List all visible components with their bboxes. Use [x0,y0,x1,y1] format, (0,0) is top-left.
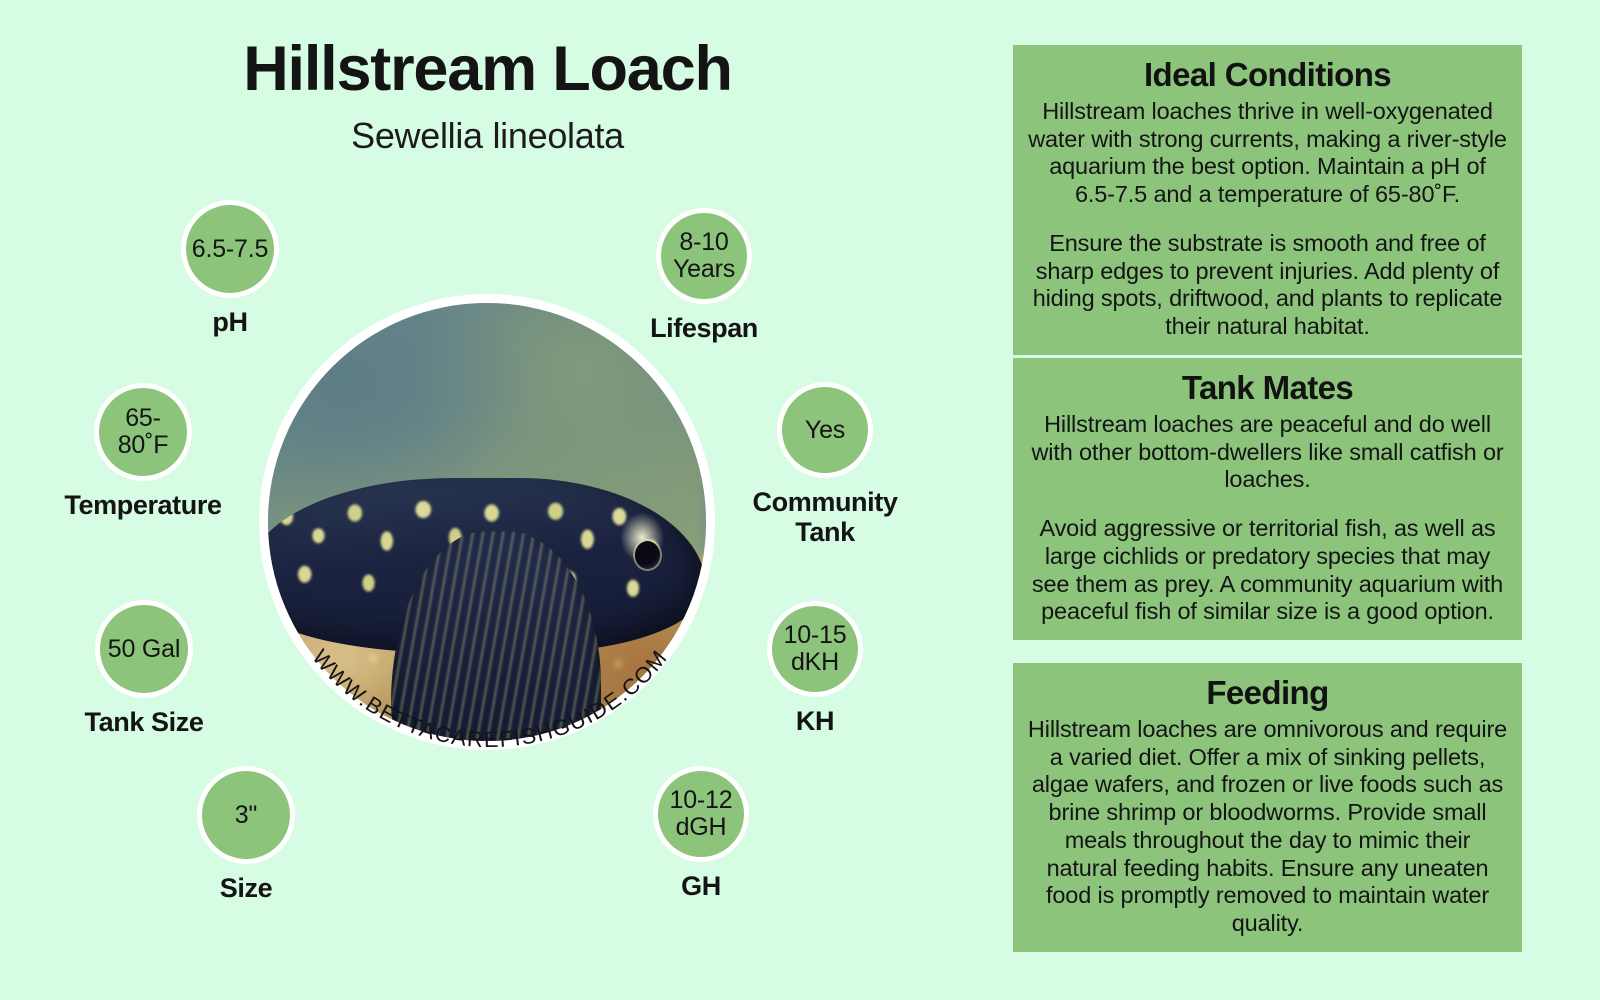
card-feeding: Feeding Hillstream loaches are omnivorou… [1013,663,1522,952]
stat-tank-size-bubble: 50 Gal [95,600,193,698]
right-column: Ideal Conditions Hillstream loaches thri… [995,0,1600,1000]
stat-gh-value: 10-12dGH [666,787,737,841]
card-tank-mates-paragraph-2: Avoid aggressive or territorial fish, as… [1027,515,1508,626]
stat-community-tank-label: Community Tank [742,488,908,547]
stat-size-label: Size [172,874,320,904]
stat-gh-bubble: 10-12dGH [653,766,749,862]
stat-kh-label: KH [744,707,886,737]
stat-size-bubble: 3" [197,766,295,864]
scientific-name: Sewellia lineolata [0,115,975,157]
stat-size-value: 3" [231,802,261,829]
stat-lifespan-bubble: 8-10Years [656,208,752,304]
card-ideal-conditions-paragraph-2: Ensure the substrate is smooth and free … [1027,230,1508,341]
card-tank-mates: Tank Mates Hillstream loaches are peacef… [1013,358,1522,640]
stat-kh: 10-15dKH KH [744,601,886,737]
fish-photo [268,303,706,741]
title-block: Hillstream Loach Sewellia lineolata [0,34,975,157]
card-tank-mates-title: Tank Mates [1027,370,1508,407]
card-feeding-paragraph-1: Hillstream loaches are omnivorous and re… [1027,716,1508,938]
stat-kh-value: 10-15dKH [780,622,851,676]
loach-fin-rays [391,531,601,741]
stat-gh: 10-12dGH GH [630,766,772,902]
stat-ph-value: 6.5-7.5 [188,236,272,263]
card-tank-mates-paragraph-1: Hillstream loaches are peaceful and do w… [1027,411,1508,494]
loach-pectoral-fin [391,531,601,741]
stat-gh-label: GH [630,872,772,902]
stat-community-tank-bubble: Yes [777,382,873,478]
card-ideal-conditions-paragraph-1: Hillstream loaches thrive in well-oxygen… [1027,98,1508,209]
stat-ph: 6.5-7.5 pH [137,200,323,338]
stat-size: 3" Size [172,766,320,904]
page-title: Hillstream Loach [0,34,975,105]
card-ideal-conditions: Ideal Conditions Hillstream loaches thri… [1013,45,1522,355]
stat-tank-size-value: 50 Gal [104,636,184,663]
stat-tank-size: 50 Gal Tank Size [70,600,218,738]
stat-temperature-value: 65-80˚F [99,405,187,459]
stat-community-tank: Yes Community Tank [742,382,908,547]
stat-lifespan: 8-10Years Lifespan [632,208,776,344]
stat-lifespan-label: Lifespan [632,314,776,344]
stat-temperature: 65-80˚F Temperature [45,383,241,521]
stat-lifespan-value: 8-10Years [669,229,739,283]
stat-temperature-label: Temperature [45,491,241,521]
stat-kh-bubble: 10-15dKH [767,601,863,697]
stat-community-tank-value: Yes [801,417,849,444]
card-feeding-title: Feeding [1027,675,1508,712]
stat-ph-label: pH [137,308,323,338]
card-ideal-conditions-title: Ideal Conditions [1027,57,1508,94]
stat-temperature-bubble: 65-80˚F [94,383,192,481]
stat-tank-size-label: Tank Size [70,708,218,738]
stat-ph-bubble: 6.5-7.5 [181,200,279,298]
left-column: Hillstream Loach Sewellia lineolata WWW.… [0,0,990,1000]
fish-photo-circle [259,294,715,750]
